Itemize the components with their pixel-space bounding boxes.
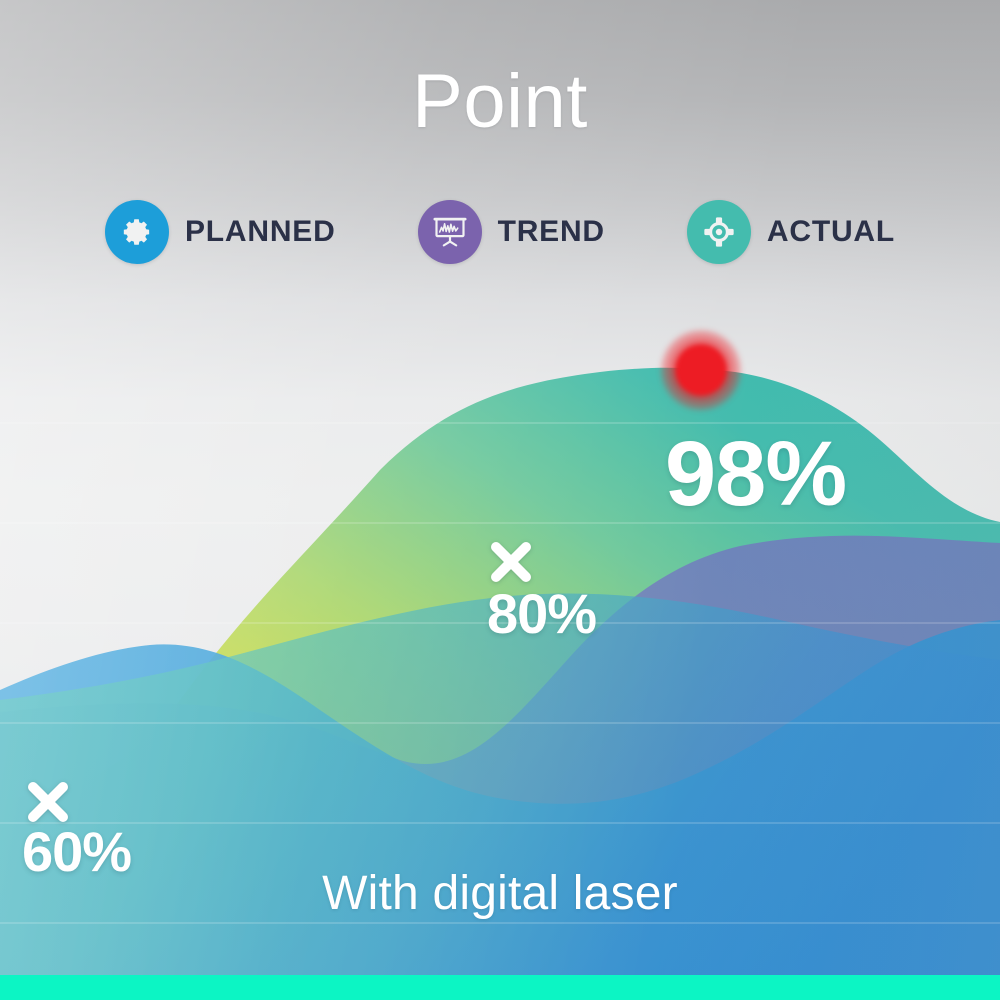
- legend: PLANNED TREND: [0, 200, 1000, 264]
- page-title: Point: [0, 58, 1000, 145]
- legend-item-planned[interactable]: PLANNED: [105, 200, 336, 264]
- legend-label-actual: ACTUAL: [767, 215, 895, 249]
- legend-label-planned: PLANNED: [185, 215, 336, 249]
- area-chart: [0, 0, 1000, 1000]
- red-dot-marker[interactable]: [661, 330, 741, 410]
- actual-badge: [687, 200, 751, 264]
- trend-badge: [418, 200, 482, 264]
- value-label-primary: 98%: [665, 428, 846, 520]
- value-label-secondary: 80%: [487, 586, 596, 642]
- infographic-canvas: Point PLANNED: [0, 0, 1000, 1000]
- legend-label-trend: TREND: [498, 215, 605, 249]
- x-marker-secondary: [487, 538, 535, 586]
- red-dot-core: [676, 345, 726, 395]
- crosshair-target-icon: [701, 214, 737, 250]
- presentation-chart-icon: [432, 214, 468, 250]
- x-marker-tertiary: [24, 778, 72, 826]
- bottom-accent-strip: [0, 975, 1000, 1000]
- legend-item-trend[interactable]: TREND: [418, 200, 605, 264]
- legend-item-actual[interactable]: ACTUAL: [687, 200, 895, 264]
- planned-badge: [105, 200, 169, 264]
- gear-icon: [120, 215, 154, 249]
- caption-text: With digital laser: [0, 866, 1000, 921]
